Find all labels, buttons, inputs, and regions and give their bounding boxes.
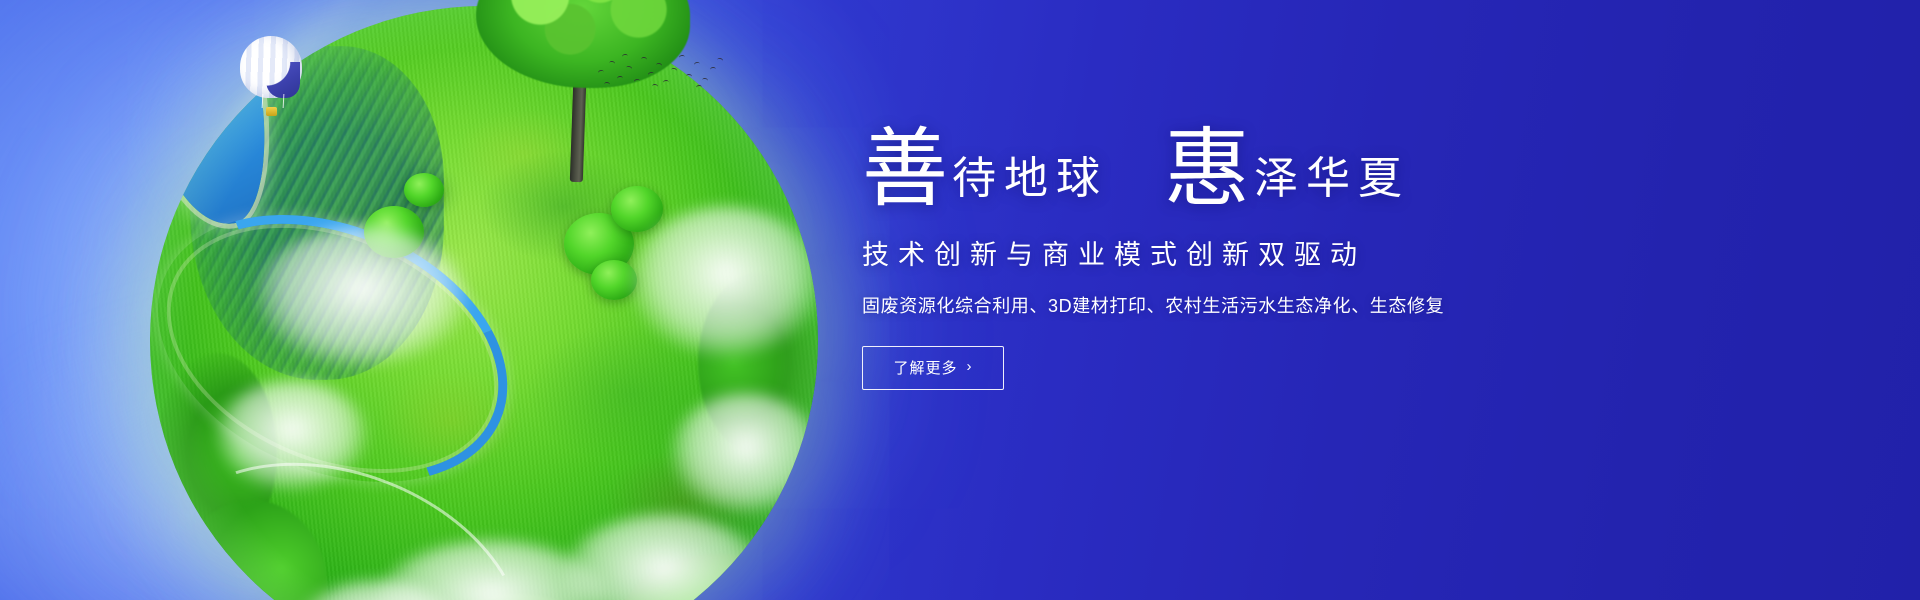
bush-icon — [564, 213, 634, 275]
forest-icon — [417, 594, 617, 600]
balloon-lines — [262, 94, 285, 108]
bush-icon — [611, 186, 663, 232]
page-subtitle: 技术创新与商业模式创新双驱动 — [862, 233, 1662, 272]
bush-icon — [591, 260, 637, 300]
headline-accent-char: 惠 — [1164, 128, 1250, 211]
hero-banner: 善 待地球 惠 泽华夏 技术创新与商业模式创新双驱动 固废资源化综合利用、3D建… — [0, 0, 1920, 600]
cloud-icon — [631, 206, 818, 356]
cloud-icon — [671, 393, 818, 513]
hot-air-balloon-icon — [240, 36, 302, 122]
headline-accent-char: 善 — [862, 128, 948, 211]
headline-phrase-1: 善 待地球 — [862, 128, 1108, 211]
river-highlight — [150, 412, 564, 600]
cloud-icon — [377, 540, 607, 600]
headline-rest: 泽华夏 — [1254, 157, 1410, 211]
balloon-basket — [266, 107, 277, 116]
cloud-icon — [257, 226, 467, 366]
learn-more-button[interactable]: 了解更多 › — [862, 346, 1004, 390]
forest-icon — [698, 273, 818, 453]
page-description: 固废资源化综合利用、3D建材打印、农村生活污水生态净化、生态修复 — [862, 292, 1662, 318]
cloud-icon — [217, 380, 367, 490]
chevron-right-icon: › — [967, 359, 973, 374]
bush-icon — [404, 173, 444, 207]
balloon-band — [266, 62, 300, 98]
hero-copy: 善 待地球 惠 泽华夏 技术创新与商业模式创新双驱动 固废资源化综合利用、3D建… — [862, 128, 1662, 390]
cloud-icon — [564, 514, 764, 600]
headline-phrase-2: 惠 泽华夏 — [1164, 128, 1410, 211]
bird-flock-icon — [596, 52, 726, 96]
cloud-icon — [297, 580, 457, 600]
headline-rest: 待地球 — [952, 157, 1108, 211]
learn-more-label: 了解更多 — [893, 357, 957, 378]
page-title: 善 待地球 惠 泽华夏 — [862, 128, 1662, 211]
bush-icon — [364, 206, 424, 258]
river-icon — [150, 165, 549, 533]
